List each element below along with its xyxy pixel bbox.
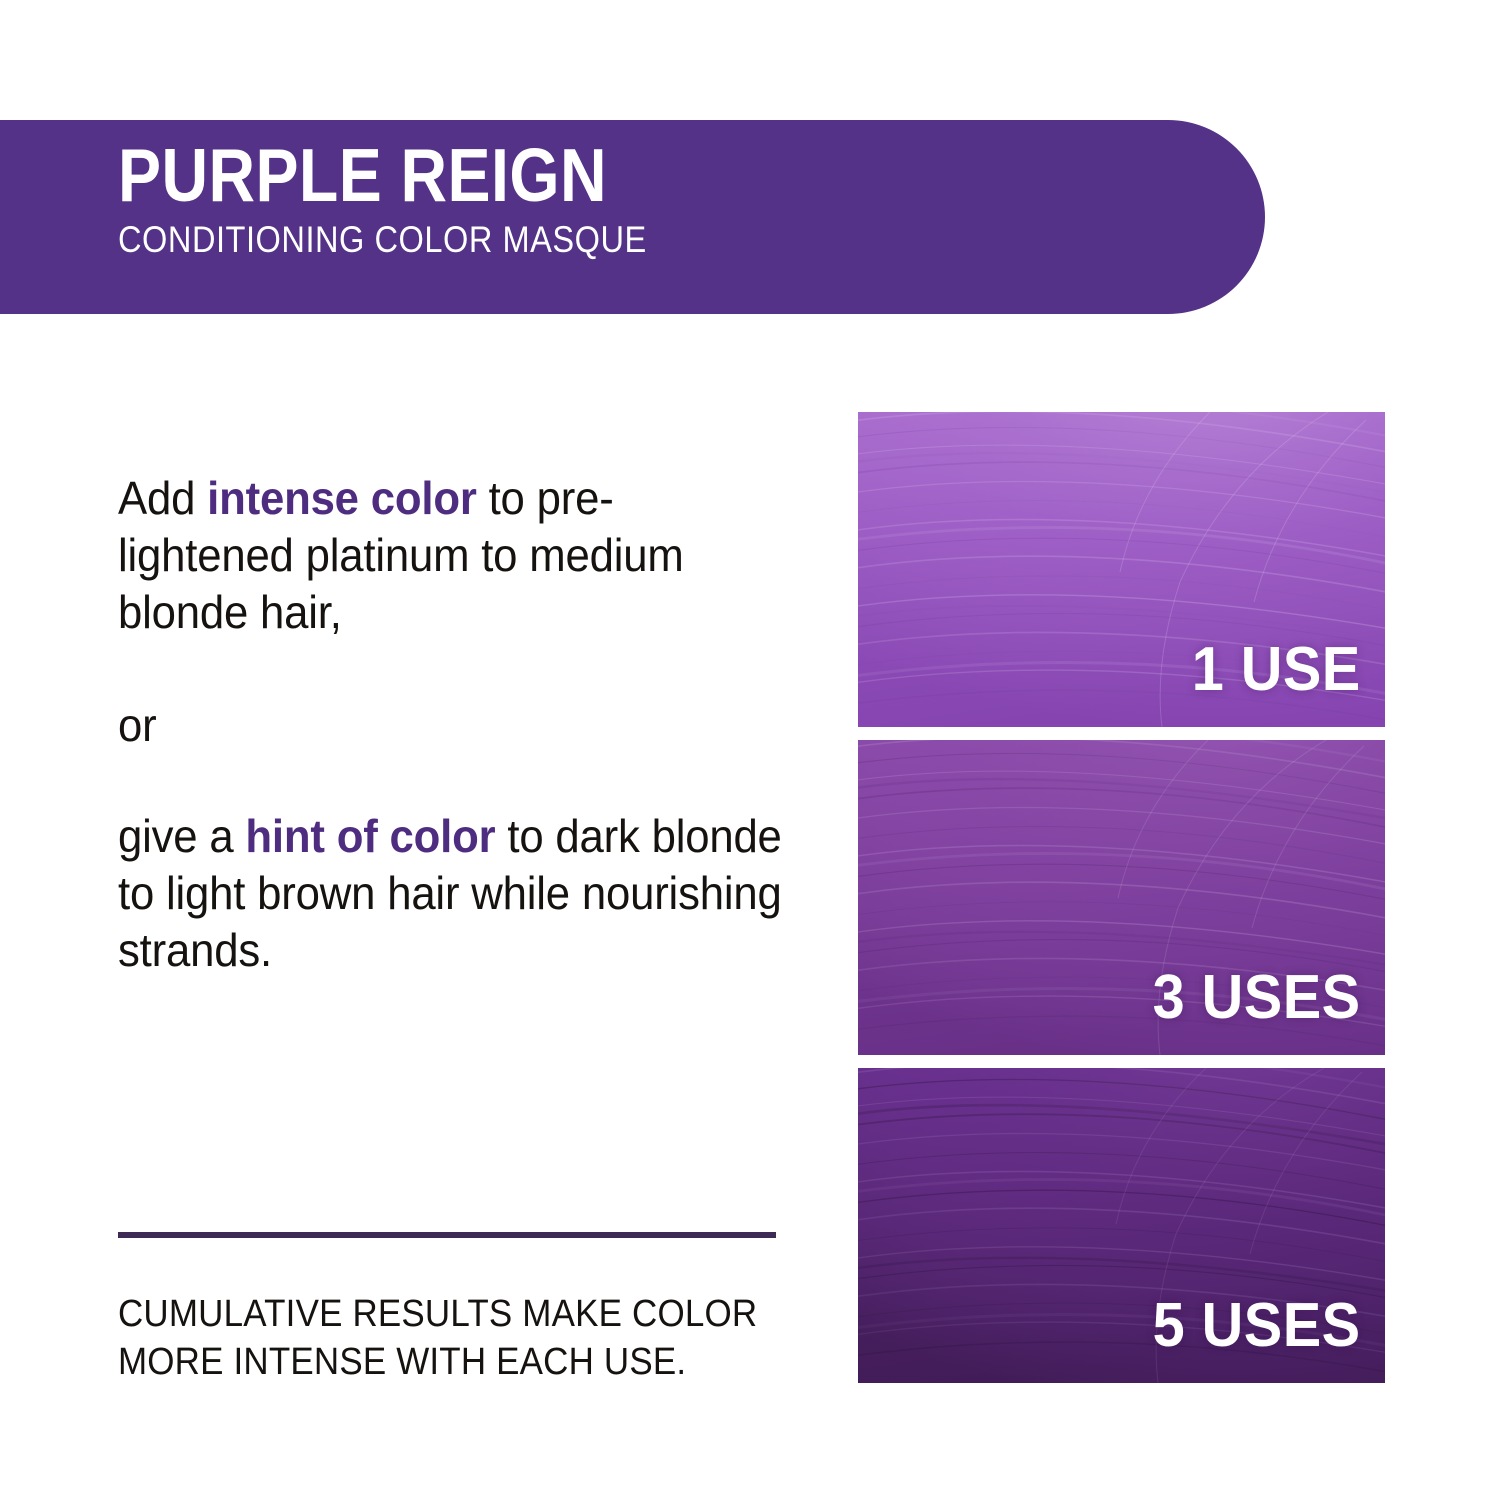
paragraph-one-lead: Add (118, 472, 207, 524)
hair-swatch-column: 1 USE (858, 412, 1385, 1396)
hair-swatch-3-uses: 3 USES (858, 740, 1385, 1055)
page-title: PURPLE REIGN (118, 136, 978, 214)
swatch-label-5-uses: 5 USES (1153, 1295, 1361, 1357)
footer-note: CUMULATIVE RESULTS MAKE COLOR MORE INTEN… (118, 1290, 780, 1386)
copy-column: Add intense color to pre-lightened plati… (118, 470, 818, 979)
paragraph-one-accent: intense color (207, 472, 477, 524)
footer-divider (118, 1232, 776, 1238)
paragraph-two-accent: hint of color (245, 810, 495, 862)
infographic-page: PURPLE REIGN CONDITIONING COLOR MASQUE A… (0, 0, 1500, 1500)
hair-swatch-1-use: 1 USE (858, 412, 1385, 727)
product-subtitle: CONDITIONING COLOR MASQUE (118, 218, 998, 262)
header-banner: PURPLE REIGN CONDITIONING COLOR MASQUE (0, 120, 1265, 314)
description-paragraph-two: give a hint of color to dark blonde to l… (118, 808, 783, 979)
swatch-label-3-uses: 3 USES (1153, 967, 1361, 1029)
header-text-block: PURPLE REIGN CONDITIONING COLOR MASQUE (118, 136, 1118, 262)
description-paragraph-one: Add intense color to pre-lightened plati… (118, 470, 783, 641)
paragraph-two-lead: give a (118, 810, 245, 862)
swatch-label-1-use: 1 USE (1192, 639, 1361, 701)
paragraph-connector: or (118, 697, 783, 754)
hair-swatch-5-uses: 5 USES (858, 1068, 1385, 1383)
